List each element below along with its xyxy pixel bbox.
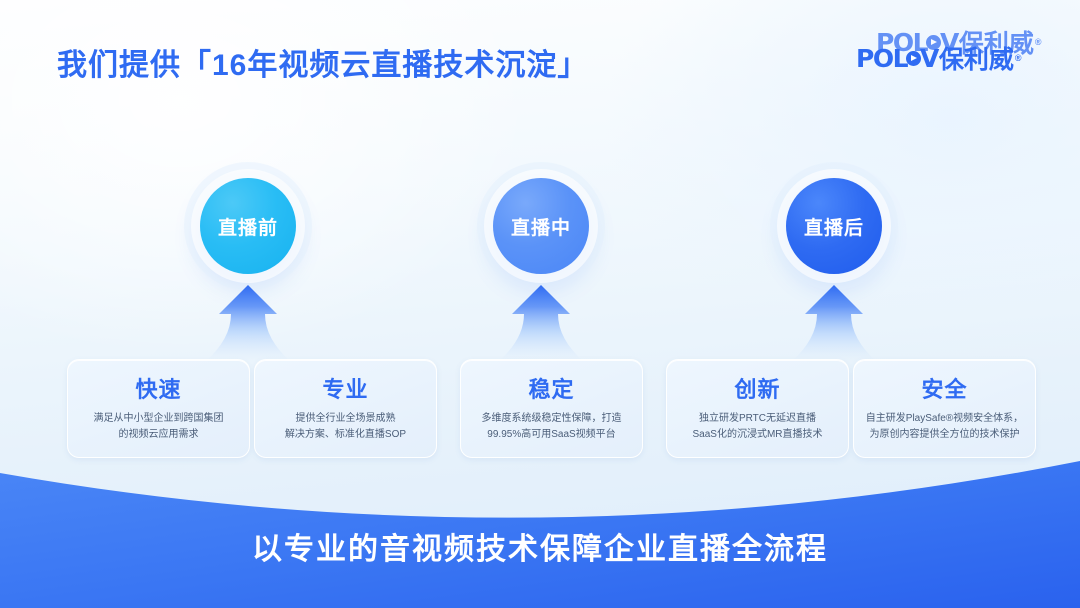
feature-card-title: 创新 xyxy=(734,372,780,404)
slide-canvas: 我们提供「16年视频云直播技术沉淀」 POL V 保利威 ® POL V 保利威… xyxy=(0,0,1080,608)
page-title: 我们提供「16年视频云直播技术沉淀」 xyxy=(57,40,588,84)
logo-text-latin: POL xyxy=(856,44,907,73)
feature-card-desc-line: 独立研发PRTC无延迟直播 xyxy=(674,411,841,427)
feature-card-desc: 多维度系统级稳定性保障，打造 99.95%高可用SaaS视频平台 xyxy=(468,411,635,443)
brand-logo: POL V 保利威 ® POL V 保利威 ® xyxy=(850,22,1064,78)
feature-card-title: 专业 xyxy=(322,372,368,404)
feature-card-desc-line: 自主研发PlaySafe®视频安全体系， xyxy=(861,411,1028,427)
feature-card-title: 快速 xyxy=(135,372,181,404)
arrow-up-icon xyxy=(205,283,291,365)
play-circle-icon xyxy=(906,51,921,66)
feature-card-desc: 自主研发PlaySafe®视频安全体系， 为原创内容提供全方位的技术保护 xyxy=(861,411,1028,443)
feature-card-desc: 独立研发PRTC无延迟直播 SaaS化的沉浸式MR直播技术 xyxy=(674,411,841,443)
stage-circle-live[interactable]: 直播中 xyxy=(493,178,589,274)
feature-card-desc-line: 满足从中小型企业到跨国集团 xyxy=(75,411,242,427)
logo-text-latin-tail: V xyxy=(920,44,938,73)
feature-card-title: 安全 xyxy=(921,372,967,404)
logo-trademark: ® xyxy=(1015,53,1021,63)
stage-label: 直播前 xyxy=(218,213,278,240)
logo-text-cn: 保利威 xyxy=(939,40,1014,76)
feature-card-desc: 满足从中小型企业到跨国集团 的视频云应用需求 xyxy=(75,411,242,443)
feature-card-desc: 提供全行业全场景成熟 解决方案、标准化直播SOP xyxy=(262,411,429,443)
logo-trademark: ® xyxy=(1035,37,1041,47)
banner-title: 以专业的音视频技术保障企业直播全流程 xyxy=(0,524,1080,568)
feature-card-desc-line: 99.95%高可用SaaS视频平台 xyxy=(468,427,635,443)
feature-card-desc-line: 多维度系统级稳定性保障，打造 xyxy=(468,411,635,427)
arrow-up-icon xyxy=(498,283,584,365)
stage-label: 直播后 xyxy=(804,213,864,240)
feature-card-desc-line: 的视频云应用需求 xyxy=(75,427,242,443)
feature-card-title: 稳定 xyxy=(528,372,574,404)
stage-circle-pre[interactable]: 直播前 xyxy=(200,178,296,274)
feature-card-desc-line: 解决方案、标准化直播SOP xyxy=(262,427,429,443)
logo-main-layer: POL V 保利威 ® xyxy=(856,40,1021,76)
bottom-banner: 以专业的音视频技术保障企业直播全流程 xyxy=(0,443,1080,608)
feature-card-desc-line: 为原创内容提供全方位的技术保护 xyxy=(861,427,1028,443)
stage-circle-post[interactable]: 直播后 xyxy=(786,178,882,274)
feature-card-desc-line: SaaS化的沉浸式MR直播技术 xyxy=(674,427,841,443)
arrow-up-icon xyxy=(791,283,877,365)
feature-card-desc-line: 提供全行业全场景成熟 xyxy=(262,411,429,427)
stage-label: 直播中 xyxy=(511,213,571,240)
